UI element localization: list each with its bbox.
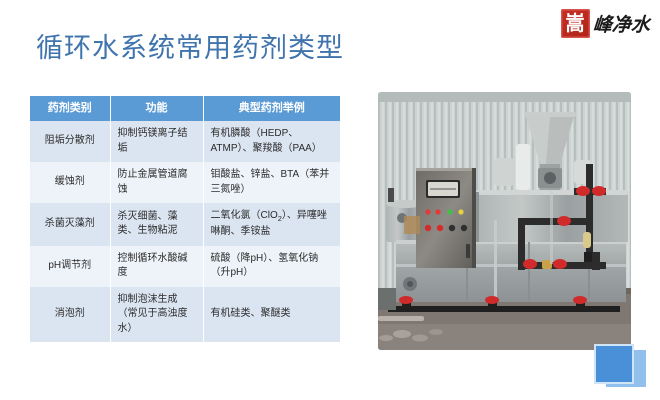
cell-function: 抑制钙镁离子结垢	[110, 121, 203, 162]
brand-logo: 嵩 峰净水	[561, 8, 650, 38]
table-row: 阻垢分散剂 抑制钙镁离子结垢 有机膦酸（HEDP、ATMP）、聚羧酸（PAA）	[30, 121, 340, 162]
page-title: 循环水系统常用药剂类型	[36, 26, 344, 65]
cell-examples: 有机膦酸（HEDP、ATMP）、聚羧酸（PAA）	[203, 121, 340, 162]
decorative-square-front	[594, 344, 634, 384]
cell-examples-text: 有机膦酸（HEDP、ATMP）、聚羧酸（PAA）	[211, 128, 322, 154]
cell-category: 杀菌灭藻剂	[30, 203, 110, 245]
chemical-table: 药剂类别 功能 典型药剂举例 阻垢分散剂 抑制钙镁离子结垢 有机膦酸（HEDP、…	[30, 96, 340, 342]
cell-examples-text: 有机硅类、聚醚类	[211, 308, 291, 319]
column-header-function: 功能	[110, 96, 203, 121]
cell-examples: 钼酸盐、锌盐、BTA（苯并三氮唑）	[203, 162, 340, 203]
column-header-category: 药剂类别	[30, 96, 110, 121]
table-row: pH调节剂 控制循环水酸碱度 硫酸（降pH）、氢氧化钠（升pH）	[30, 246, 340, 287]
decorative-squares	[590, 344, 648, 390]
cell-examples: 硫酸（降pH）、氢氧化钠（升pH）	[203, 246, 340, 287]
cell-function: 防止金属管道腐蚀	[110, 162, 203, 203]
logo-seal-icon: 嵩	[561, 9, 590, 38]
cell-examples: 有机硅类、聚醚类	[203, 287, 340, 343]
cell-examples-text: 二氧化氯（ClO	[211, 210, 278, 221]
table-row: 杀菌灭藻剂 杀灭细菌、藻类、生物粘泥 二氧化氯（ClO2）、异噻唑啉酮、季铵盐	[30, 203, 340, 245]
cell-function: 杀灭细菌、藻类、生物粘泥	[110, 203, 203, 245]
column-header-examples: 典型药剂举例	[203, 96, 340, 121]
cell-function: 控制循环水酸碱度	[110, 246, 203, 287]
chemical-table-container: 药剂类别 功能 典型药剂举例 阻垢分散剂 抑制钙镁离子结垢 有机膦酸（HEDP、…	[30, 96, 340, 342]
cell-category: pH调节剂	[30, 246, 110, 287]
cell-examples-text: 钼酸盐、锌盐、BTA（苯并三氮唑）	[211, 169, 330, 195]
cell-category: 阻垢分散剂	[30, 121, 110, 162]
equipment-photo	[378, 92, 631, 350]
cell-category: 缓蚀剂	[30, 162, 110, 203]
table-row: 消泡剂 抑制泡沫生成（常见于高浊度水） 有机硅类、聚醚类	[30, 287, 340, 343]
cell-function: 抑制泡沫生成（常见于高浊度水）	[110, 287, 203, 343]
equipment-photo-illustration	[378, 92, 631, 350]
cell-category: 消泡剂	[30, 287, 110, 343]
table-row: 缓蚀剂 防止金属管道腐蚀 钼酸盐、锌盐、BTA（苯并三氮唑）	[30, 162, 340, 203]
logo-text: 峰净水	[592, 10, 651, 37]
table-header-row: 药剂类别 功能 典型药剂举例	[30, 96, 340, 121]
cell-examples: 二氧化氯（ClO2）、异噻唑啉酮、季铵盐	[203, 203, 340, 245]
logo-seal-char: 嵩	[566, 13, 585, 33]
cell-examples-text: 硫酸（降pH）、氢氧化钠（升pH）	[211, 253, 319, 279]
